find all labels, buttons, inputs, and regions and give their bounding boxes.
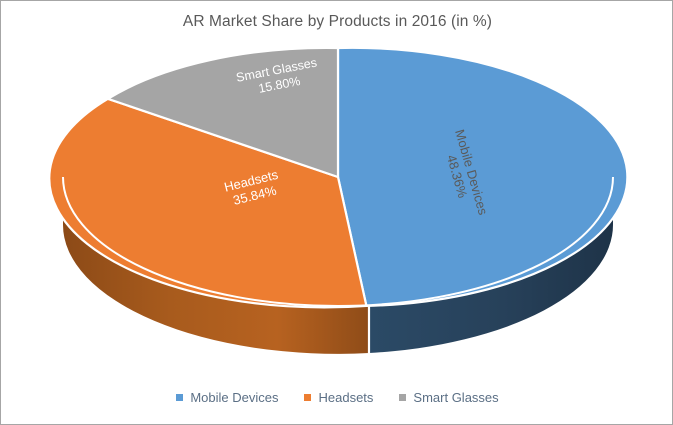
pie-3d-graphic xyxy=(1,1,673,425)
pie-chart-plot-area: Mobile Devices 48.36% Headsets 35.84% Sm… xyxy=(1,1,673,425)
chart-legend: Mobile Devices Headsets Smart Glasses xyxy=(1,390,673,405)
legend-label-mobile-devices: Mobile Devices xyxy=(190,390,278,405)
legend-item-mobile-devices[interactable]: Mobile Devices xyxy=(176,390,278,405)
legend-swatch-icon-headsets xyxy=(304,394,311,401)
legend-label-smart-glasses: Smart Glasses xyxy=(413,390,498,405)
legend-swatch-icon-smart-glasses xyxy=(399,394,406,401)
legend-swatch-icon-mobile-devices xyxy=(176,394,183,401)
legend-item-headsets[interactable]: Headsets xyxy=(304,390,373,405)
legend-item-smart-glasses[interactable]: Smart Glasses xyxy=(399,390,498,405)
chart-container: AR Market Share by Products in 2016 (in … xyxy=(0,0,673,425)
legend-label-headsets: Headsets xyxy=(318,390,373,405)
